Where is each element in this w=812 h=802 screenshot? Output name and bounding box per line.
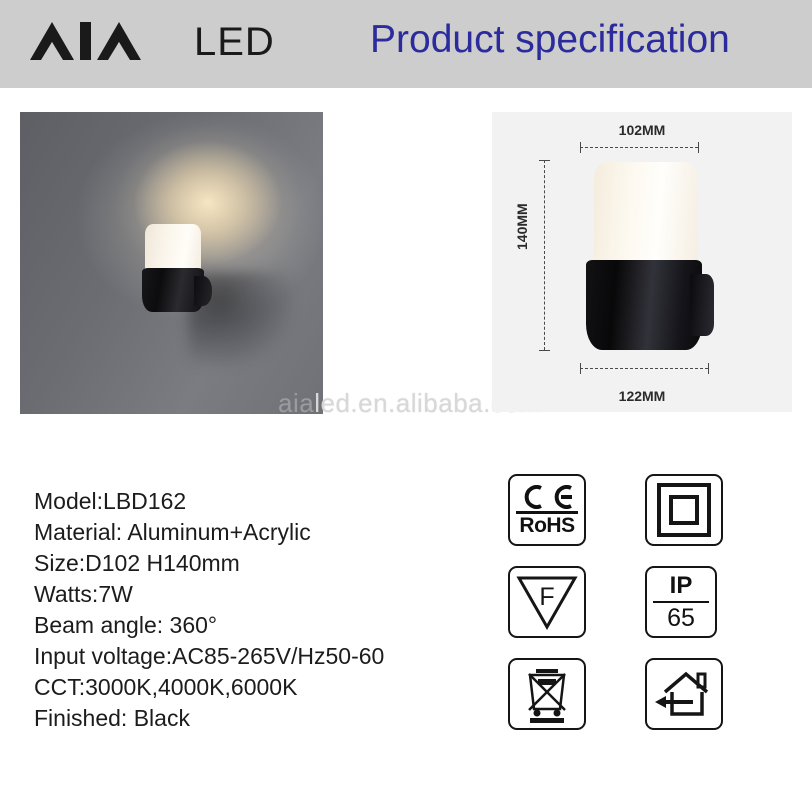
- ce-letters-icon: [519, 485, 575, 509]
- dimension-label-side: 140MM: [514, 203, 530, 250]
- cert-cell-f-mark: F: [508, 566, 645, 658]
- dimension-tick-bottom-left: [580, 363, 581, 374]
- spec-line-input-voltage: Input voltage:AC85-265V/Hz50-60: [34, 641, 484, 672]
- dimension-tick-side-top: [539, 160, 550, 161]
- brand-logo: LED: [28, 22, 275, 62]
- ip-divider: [653, 601, 709, 603]
- dimension-label-bottom: 122MM: [492, 388, 792, 404]
- dimension-tick-top-left: [580, 142, 581, 153]
- product-photo: [20, 112, 323, 414]
- cert-cell-indoor-use: [645, 658, 782, 750]
- indoor-use-icon: [645, 658, 723, 730]
- page-title: Product specification: [370, 18, 730, 62]
- cert-cell-class-two: [645, 474, 782, 566]
- diagram-lamp-diffuser: [594, 162, 698, 264]
- class-two-icon: [645, 474, 723, 546]
- ce-rohs-icon: RoHS: [508, 474, 586, 546]
- spec-line-size: Size:D102 H140mm: [34, 548, 484, 579]
- dimension-tick-top-right: [698, 142, 699, 153]
- f-triangle-icon: F: [516, 574, 578, 630]
- ip-prefix-label: IP: [670, 574, 693, 598]
- weee-bin-icon: [508, 658, 586, 730]
- spec-line-watts: Watts:7W: [34, 579, 484, 610]
- dimension-tick-side-bottom: [539, 350, 550, 351]
- spec-line-model: Model:LBD162: [34, 486, 484, 517]
- dimension-line-top: [580, 147, 698, 148]
- f-mark-icon: F: [508, 566, 586, 638]
- dimension-tick-bottom-right: [708, 363, 709, 374]
- ip-rating-icon: IP 65: [645, 566, 717, 638]
- cert-cell-ip-rating: IP 65: [645, 566, 782, 658]
- specification-list: Model:LBD162 Material: Aluminum+Acrylic …: [34, 486, 484, 734]
- f-letter: F: [539, 583, 554, 611]
- dimension-label-top: 102MM: [492, 122, 792, 138]
- ce-mark-icon: [519, 485, 575, 509]
- diagram-lamp-base: [586, 260, 702, 350]
- diagram-lamp-wall-bracket: [690, 274, 714, 336]
- photo-lamp-fixture: [142, 224, 214, 312]
- dimension-line-bottom: [580, 368, 708, 369]
- diagram-lamp-fixture: [582, 162, 712, 350]
- page-header: LED Product specification: [0, 0, 812, 88]
- logo-led-text: LED: [194, 22, 275, 62]
- spec-line-beam-angle: Beam angle: 360°: [34, 610, 484, 641]
- certification-grid: RoHS F IP 65: [508, 474, 782, 750]
- aia-letters-icon: [28, 20, 180, 62]
- photo-lamp-diffuser: [145, 224, 201, 272]
- double-square-icon: [657, 483, 711, 537]
- house-arrow-icon: [653, 666, 715, 722]
- crossed-wheelie-bin-icon: [516, 663, 578, 725]
- dimension-line-side: [544, 160, 545, 350]
- photo-lamp-wall-bracket: [194, 276, 212, 306]
- logo-aia-mark: [28, 22, 180, 62]
- cert-cell-weee-bin: [508, 658, 645, 750]
- dimension-diagram: 102MM 140MM 122MM: [492, 112, 792, 412]
- rohs-label: RoHS: [519, 515, 574, 536]
- spec-line-cct: CCT:3000K,4000K,6000K: [34, 672, 484, 703]
- spec-line-finish: Finished: Black: [34, 703, 484, 734]
- cert-cell-ce-rohs: RoHS: [508, 474, 645, 566]
- spec-line-material: Material: Aluminum+Acrylic: [34, 517, 484, 548]
- ip-value-label: 65: [667, 606, 695, 631]
